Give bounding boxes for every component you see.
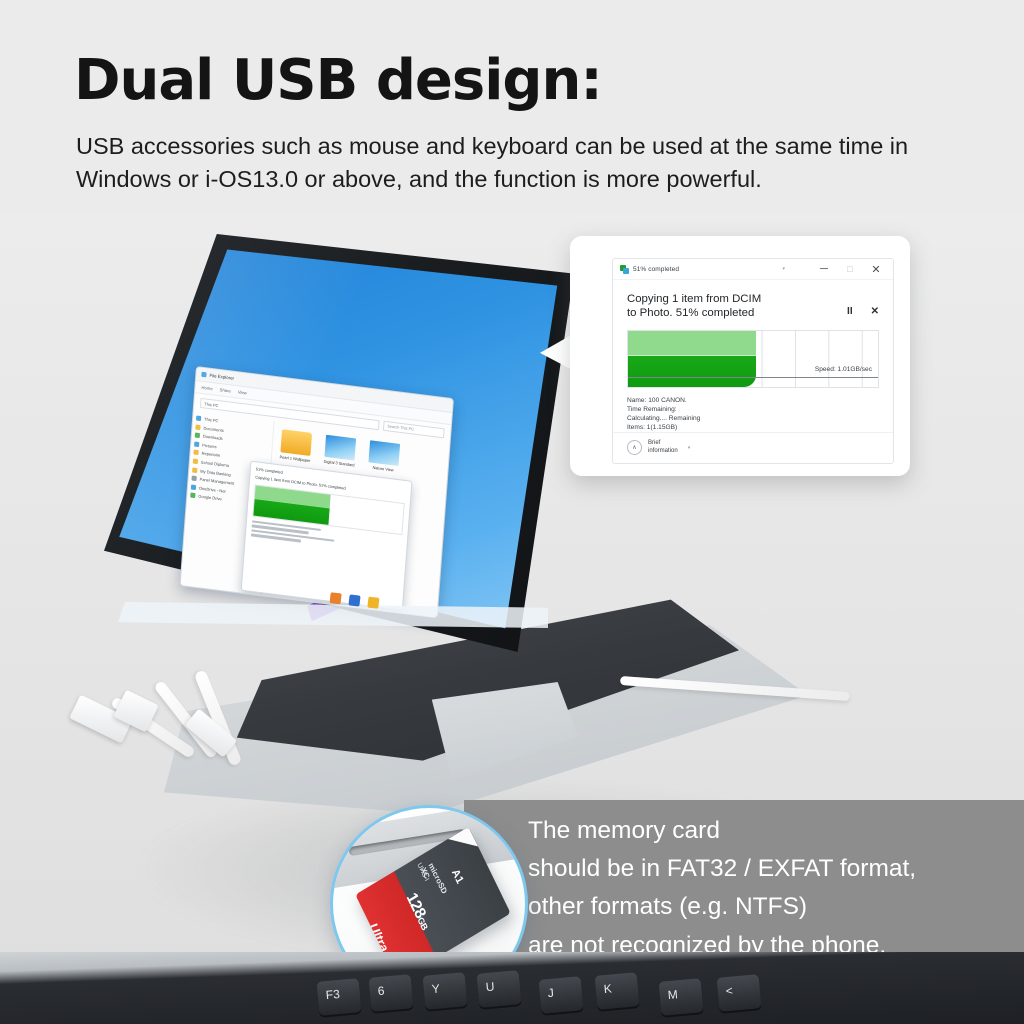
- key-u: U: [477, 970, 522, 1008]
- card-capacity-label: 128GB: [402, 890, 434, 933]
- progress-baseline: [628, 377, 878, 378]
- copy-progress-dialog[interactable]: 51% completed ▾ ─ □ ✕ Copying 1 item fro…: [612, 258, 894, 464]
- dialog-action-buttons[interactable]: II ✕: [847, 292, 879, 317]
- card-brand-label: Ultra: [366, 920, 392, 954]
- key-f3: F3: [317, 978, 362, 1016]
- cloud-icon: [191, 484, 196, 490]
- file-item-photo-2[interactable]: Nature View: [365, 440, 403, 475]
- footer-line-1: Brief: [648, 440, 660, 446]
- warning-line-1: The memory card: [528, 812, 1024, 850]
- dialog-footer[interactable]: ∧ Brief information ▾: [613, 432, 893, 463]
- search-placeholder: Search This PC: [387, 424, 414, 431]
- pc-icon: [196, 416, 201, 422]
- sidebar-label: This PC: [204, 417, 219, 424]
- copy-icon: [620, 265, 629, 274]
- file-item-photo-1[interactable]: Digital 3 Standard: [321, 434, 359, 469]
- ribbon-tab-share[interactable]: Share: [219, 387, 231, 393]
- detail-time-remaining: Time Remaining:: [627, 405, 879, 414]
- brief-information-label: Brief information: [648, 440, 678, 455]
- taskbar-icon-store[interactable]: [348, 594, 360, 606]
- key-comma: <: [717, 974, 762, 1012]
- explorer-body: This PC Documents Downloads Pictures Rep…: [180, 411, 450, 618]
- dialog-title-bar: 51% completed ▾ ─ □ ✕: [613, 259, 893, 280]
- minimize-button[interactable]: ─: [811, 259, 837, 279]
- close-button[interactable]: ✕: [863, 259, 889, 279]
- file-explorer-window[interactable]: File Explorer Home Share View This PC Se…: [180, 366, 455, 618]
- card-speed-class-label: A1: [449, 867, 465, 886]
- folder-icon: [192, 467, 197, 473]
- sidebar-label: Downloads: [203, 434, 223, 441]
- folder-icon: [191, 476, 196, 482]
- detail-items: Items: 1(1.15GB): [627, 423, 879, 432]
- detail-calculating: Calculating.... Remaining: [627, 414, 879, 423]
- page-subtext: USB accessories such as mouse and keyboa…: [76, 130, 966, 197]
- ribbon-tab-view[interactable]: View: [238, 389, 247, 395]
- detail-name: Name: 100 CANON.: [627, 396, 879, 405]
- page-title: Dual USB design:: [74, 52, 974, 111]
- folder-icon: [195, 424, 200, 430]
- chevron-up-icon[interactable]: ∧: [627, 440, 642, 455]
- key-j: J: [539, 976, 584, 1014]
- sidebar-label: OneDrive - Net: [199, 485, 226, 493]
- progress-bar: Speed: 1.01GB/sec: [627, 330, 879, 388]
- dialog-body: Copying 1 item from DCIM to Photo. 51% c…: [613, 280, 893, 388]
- warning-line-3: other formats (e.g. NTFS): [528, 888, 1024, 926]
- sidebar-label: Repertoire: [201, 451, 220, 458]
- sidebar-label: Pictures: [202, 442, 217, 449]
- key-m: M: [659, 978, 704, 1016]
- sidebar-label: School Diploma: [201, 459, 229, 468]
- copy-status-row: Copying 1 item from DCIM to Photo. 51% c…: [627, 292, 879, 321]
- cancel-button[interactable]: ✕: [871, 306, 879, 317]
- photo-thumbnail: [324, 435, 356, 461]
- file-item-folder[interactable]: Pearl 1 Wallpaper: [277, 429, 315, 464]
- explorer-icon: [201, 372, 206, 378]
- photo-thumbnail: [368, 440, 400, 466]
- explorer-title: File Explorer: [209, 373, 234, 381]
- transfer-speed-label: Speed: 1.01GB/sec: [815, 366, 872, 373]
- sidebar-label: My Data Banking: [200, 468, 231, 477]
- sidebar-label: Panel Management: [199, 477, 234, 486]
- sidebar-label: Documents: [203, 425, 224, 433]
- folder-icon: [195, 433, 200, 439]
- transfer-details: Name: 100 CANON. Time Remaining: Calcula…: [613, 388, 893, 432]
- dialog-title: 51% completed: [633, 266, 782, 273]
- folder-icon: [194, 441, 199, 447]
- explorer-file-grid[interactable]: Pearl 1 Wallpaper Digital 3 Standard Nat…: [261, 421, 450, 618]
- ribbon-tab-home[interactable]: Home: [201, 385, 213, 391]
- pause-button[interactable]: II: [847, 306, 853, 317]
- address-text: This PC: [204, 401, 219, 408]
- sidebar-label: Google Drive: [198, 494, 222, 502]
- folder-icon: [193, 450, 198, 456]
- maximize-button[interactable]: □: [837, 259, 863, 279]
- taskbar-icon-explorer[interactable]: [330, 592, 342, 604]
- footer-caret-icon: ▾: [688, 445, 691, 451]
- folder-icon: [193, 458, 198, 464]
- key-6: 6: [369, 974, 414, 1012]
- copy-status-text: Copying 1 item from DCIM to Photo. 51% c…: [627, 292, 847, 321]
- progress-fill: [628, 331, 756, 387]
- folder-icon: [280, 429, 312, 456]
- title-caret-icon: ▾: [782, 266, 785, 272]
- taskbar-icon-folder[interactable]: [367, 597, 379, 609]
- key-y: Y: [423, 972, 468, 1010]
- key-k: K: [595, 972, 640, 1010]
- warning-line-2: should be in FAT32 / EXFAT format,: [528, 850, 1024, 888]
- product-marketing-image: Dual USB design: USB accessories such as…: [0, 0, 1024, 1024]
- copy-status-line-1: Copying 1 item from DCIM: [627, 292, 847, 306]
- bottom-keyboard-strip: F3 6 Y U J K M <: [0, 952, 1024, 1024]
- copy-status-line-2: to Photo. 51% completed: [627, 306, 847, 320]
- file-label: Nature View: [372, 465, 394, 473]
- onscreen-copy-dialog[interactable]: 51% completed Copying 1 item from DCIM t…: [241, 461, 413, 611]
- drive-icon: [190, 493, 195, 499]
- footer-line-2: information: [648, 448, 678, 454]
- warning-banner-text: The memory card should be in FAT32 / EXF…: [528, 812, 1024, 965]
